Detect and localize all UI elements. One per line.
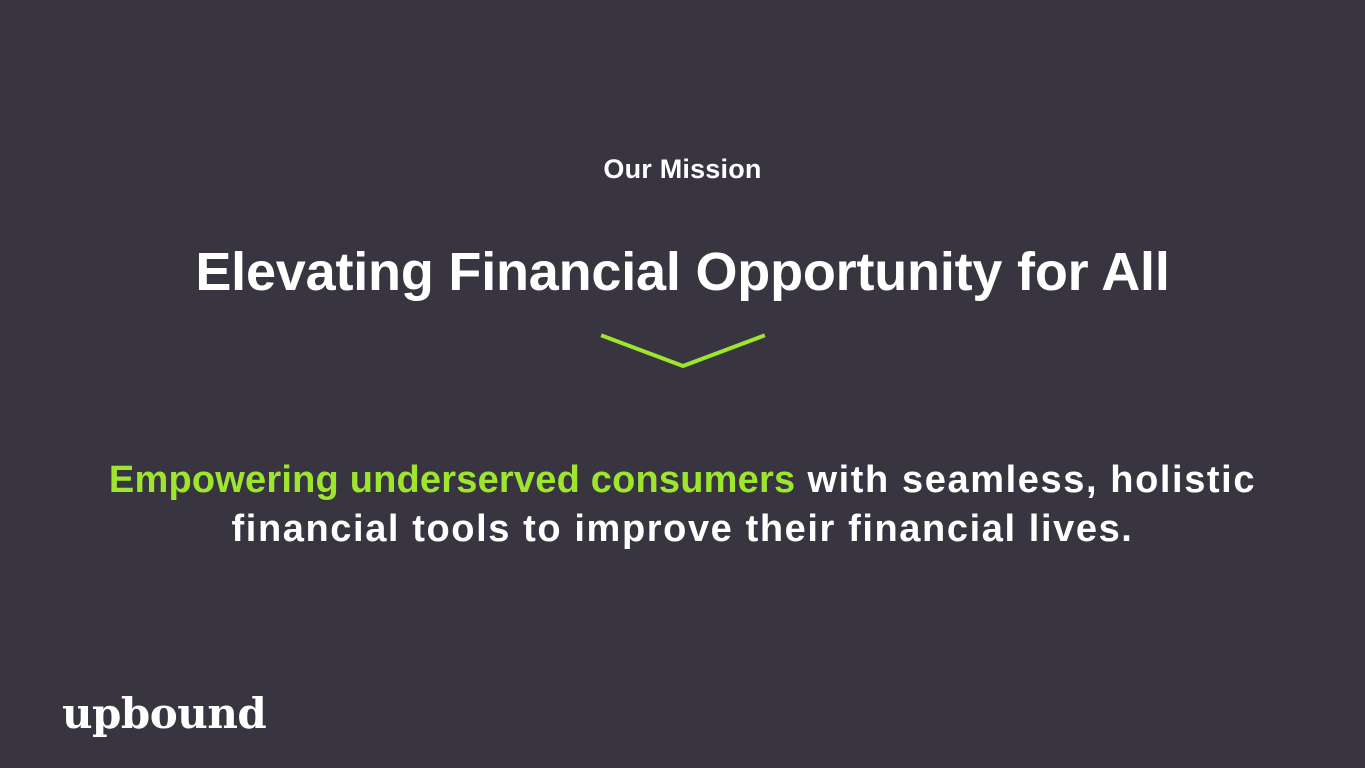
mission-statement: Empowering underserved consumers with se… bbox=[68, 456, 1298, 554]
upbound-logo: upbound bbox=[62, 690, 266, 738]
mission-statement-accent: Empowering underserved consumers bbox=[109, 459, 795, 501]
chevron-divider bbox=[0, 325, 1365, 385]
chevron-down-icon bbox=[598, 325, 768, 375]
page-title: Elevating Financial Opportunity for All bbox=[0, 237, 1365, 307]
eyebrow-label: Our Mission bbox=[0, 149, 1365, 189]
mission-slide: Our Mission Elevating Financial Opportun… bbox=[0, 0, 1365, 768]
